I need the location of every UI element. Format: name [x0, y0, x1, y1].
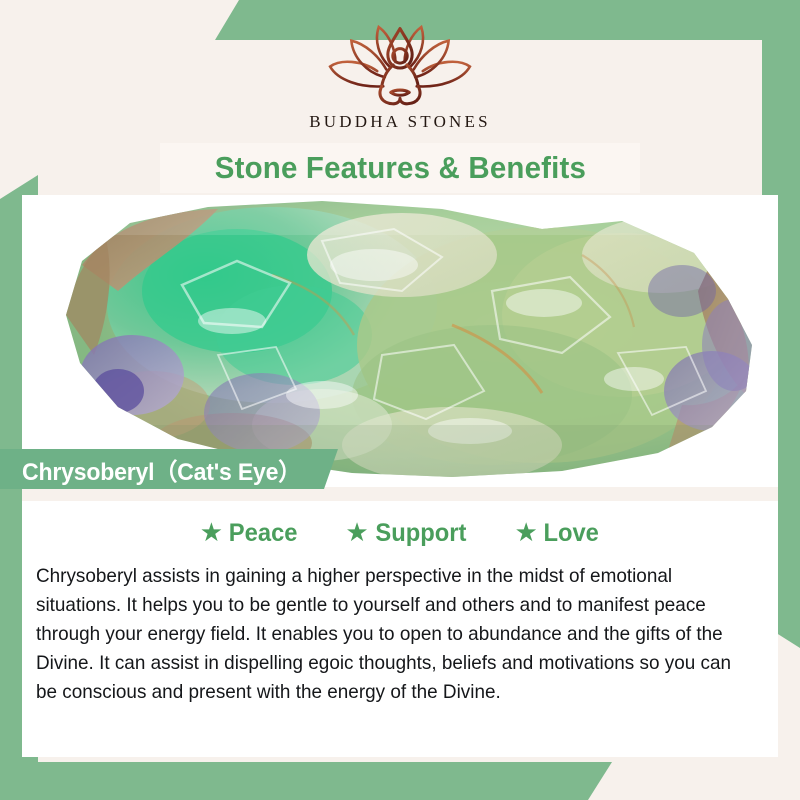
star-icon: ★ — [200, 519, 223, 545]
frame-band-bottom — [0, 762, 612, 800]
stone-photo — [22, 195, 778, 487]
lotus-meditation-figure-icon — [324, 22, 476, 108]
page-title-plate: Stone Features & Benefits — [160, 143, 640, 193]
stone-description: Chrysoberyl assists in gaining a higher … — [36, 562, 744, 707]
benefit-label: Love — [543, 519, 598, 548]
infographic-page: BUDDHA STONES Stone Features & Benefits — [0, 0, 800, 800]
brand-name: BUDDHA STONES — [309, 112, 491, 132]
page-title: Stone Features & Benefits — [214, 150, 585, 186]
benefit-item-love: ★ Love — [515, 519, 601, 548]
benefit-item-peace: ★ Peace — [200, 519, 300, 548]
star-icon: ★ — [345, 519, 368, 545]
stone-name: Chrysoberyl（Cat's Eye） — [22, 452, 301, 487]
cream-divider-strip — [22, 487, 778, 501]
benefit-item-support: ★ Support — [345, 519, 468, 548]
stone-name-banner: Chrysoberyl（Cat's Eye） — [0, 449, 338, 489]
star-icon: ★ — [515, 519, 538, 545]
benefit-label: Peace — [229, 519, 298, 548]
benefits-row: ★ Peace ★ Support ★ Love — [22, 512, 778, 554]
benefit-label: Support — [375, 519, 466, 548]
brand-header: BUDDHA STONES — [0, 0, 800, 142]
